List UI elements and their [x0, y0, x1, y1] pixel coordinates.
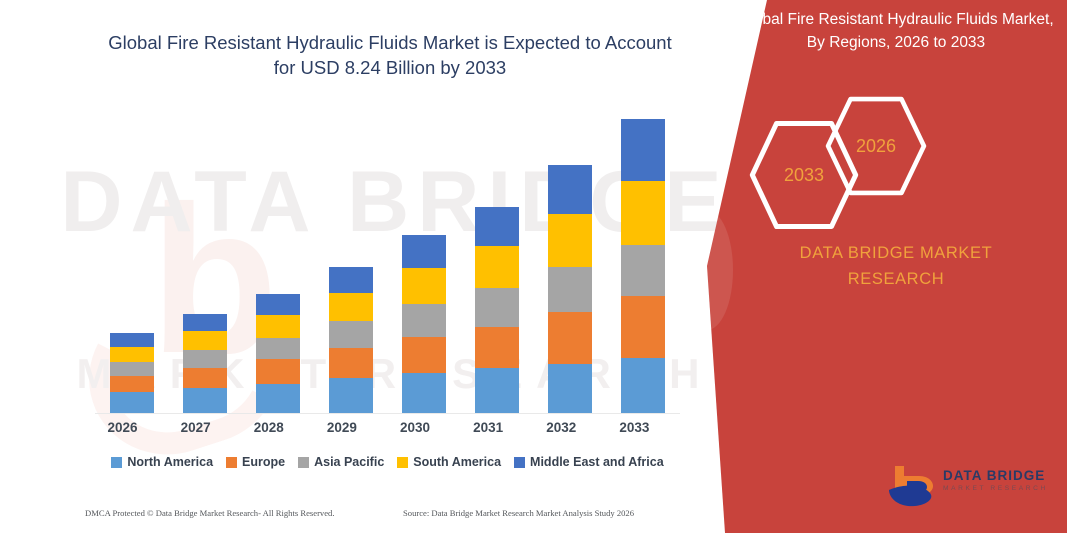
- legend-label: Asia Pacific: [314, 455, 384, 469]
- bar-group-2026[interactable]: [110, 333, 154, 413]
- legend-item-europe[interactable]: Europe: [226, 455, 285, 469]
- footer: DMCA Protected © Data Bridge Market Rese…: [85, 508, 685, 524]
- hexagon-2026-label: 2026: [856, 136, 896, 157]
- bar-group-2027[interactable]: [183, 314, 227, 413]
- logo: DATA BRIDGE MARKET RESEARCH: [885, 462, 1053, 512]
- x-axis-label-2029: 2029: [311, 420, 373, 435]
- data-bridge-logo-icon: [885, 462, 939, 510]
- brand-name: DATA BRIDGE MARKET RESEARCH: [737, 240, 1055, 292]
- bar-segment[interactable]: [110, 362, 154, 376]
- side-panel: Global Fire Resistant Hydraulic Fluids M…: [707, 0, 1067, 533]
- bar-segment[interactable]: [475, 207, 519, 246]
- bar-segment[interactable]: [329, 378, 373, 413]
- bar-group-2033[interactable]: [621, 119, 665, 413]
- logo-title: DATA BRIDGE: [943, 468, 1055, 483]
- bar-segment[interactable]: [110, 347, 154, 362]
- bar-segment[interactable]: [110, 392, 154, 413]
- brand-line-2: RESEARCH: [737, 266, 1055, 292]
- bar-segment[interactable]: [621, 296, 665, 358]
- legend-item-north-america[interactable]: North America: [111, 455, 213, 469]
- page-title: Global Fire Resistant Hydraulic Fluids M…: [95, 30, 685, 80]
- legend-swatch-icon: [298, 457, 309, 468]
- legend-swatch-icon: [111, 457, 122, 468]
- legend-swatch-icon: [226, 457, 237, 468]
- hexagon-group: 2026 2033: [737, 95, 1055, 215]
- bar-segment[interactable]: [183, 314, 227, 332]
- bar-segment[interactable]: [110, 376, 154, 393]
- bar-segment[interactable]: [183, 350, 227, 368]
- bar-group-2031[interactable]: [475, 207, 519, 413]
- bar-segment[interactable]: [548, 267, 592, 313]
- bar-segment[interactable]: [183, 388, 227, 413]
- bar-segment[interactable]: [621, 245, 665, 297]
- legend-label: Middle East and Africa: [530, 455, 664, 469]
- x-axis-label-2032: 2032: [530, 420, 592, 435]
- bar-segment[interactable]: [256, 338, 300, 359]
- bar-segment[interactable]: [256, 384, 300, 413]
- brand-line-1: DATA BRIDGE MARKET: [737, 240, 1055, 266]
- bar-segment[interactable]: [329, 267, 373, 293]
- bar-group-2032[interactable]: [548, 165, 592, 413]
- bar-segment[interactable]: [256, 315, 300, 337]
- bar-segment[interactable]: [402, 268, 446, 304]
- legend-item-south-america[interactable]: South America: [397, 455, 501, 469]
- legend-item-asia-pacific[interactable]: Asia Pacific: [298, 455, 384, 469]
- bar-segment[interactable]: [256, 294, 300, 316]
- footer-copyright: DMCA Protected © Data Bridge Market Rese…: [85, 508, 335, 518]
- legend-label: North America: [127, 455, 213, 469]
- logo-text: DATA BRIDGE MARKET RESEARCH: [943, 468, 1055, 492]
- bar-segment[interactable]: [183, 331, 227, 350]
- bar-group-2028[interactable]: [256, 294, 300, 413]
- logo-subtitle: MARKET RESEARCH: [943, 485, 1055, 492]
- x-axis-label-2027: 2027: [165, 420, 227, 435]
- bar-segment[interactable]: [548, 165, 592, 214]
- chart-legend: North AmericaEuropeAsia PacificSouth Ame…: [95, 455, 680, 469]
- legend-label: South America: [413, 455, 501, 469]
- bar-segment[interactable]: [183, 368, 227, 388]
- bar-segment[interactable]: [621, 181, 665, 245]
- x-axis-line: [95, 413, 680, 414]
- footer-source: Source: Data Bridge Market Research Mark…: [403, 508, 634, 518]
- bar-group-2029[interactable]: [329, 267, 373, 413]
- bar-segment[interactable]: [548, 364, 592, 413]
- bar-segment[interactable]: [475, 246, 519, 288]
- x-axis-label-2026: 2026: [92, 420, 154, 435]
- bar-segment[interactable]: [402, 235, 446, 268]
- bar-segment[interactable]: [329, 348, 373, 378]
- side-panel-title: Global Fire Resistant Hydraulic Fluids M…: [737, 8, 1055, 54]
- legend-swatch-icon: [397, 457, 408, 468]
- legend-item-middle-east-and-africa[interactable]: Middle East and Africa: [514, 455, 664, 469]
- bar-group-2030[interactable]: [402, 235, 446, 413]
- legend-label: Europe: [242, 455, 285, 469]
- bar-chart-plot-area: [95, 100, 680, 413]
- hexagon-2033-label: 2033: [784, 165, 824, 186]
- bar-segment[interactable]: [110, 333, 154, 347]
- legend-swatch-icon: [514, 457, 525, 468]
- x-axis-labels: 20262027202820292030203120322033: [95, 420, 680, 444]
- bar-segment[interactable]: [475, 288, 519, 327]
- x-axis-label-2030: 2030: [384, 420, 446, 435]
- x-axis-label-2028: 2028: [238, 420, 300, 435]
- chart-panel: b DATA BRIDGE MARKET RESEARCH Global Fir…: [0, 0, 790, 533]
- bar-segment[interactable]: [402, 337, 446, 373]
- x-axis-label-2031: 2031: [457, 420, 519, 435]
- hexagon-2033: 2033: [749, 119, 859, 231]
- bar-segment[interactable]: [402, 304, 446, 338]
- bar-segment[interactable]: [329, 321, 373, 348]
- bar-segment[interactable]: [548, 214, 592, 267]
- bar-segment[interactable]: [475, 327, 519, 368]
- bar-segment[interactable]: [621, 119, 665, 181]
- bar-segment[interactable]: [548, 312, 592, 363]
- bar-segment[interactable]: [402, 373, 446, 413]
- bar-segment[interactable]: [621, 358, 665, 413]
- infographic-root: b DATA BRIDGE MARKET RESEARCH Global Fir…: [0, 0, 1067, 533]
- bar-segment[interactable]: [256, 359, 300, 384]
- x-axis-label-2033: 2033: [603, 420, 665, 435]
- bar-segment[interactable]: [329, 293, 373, 321]
- bar-segment[interactable]: [475, 368, 519, 413]
